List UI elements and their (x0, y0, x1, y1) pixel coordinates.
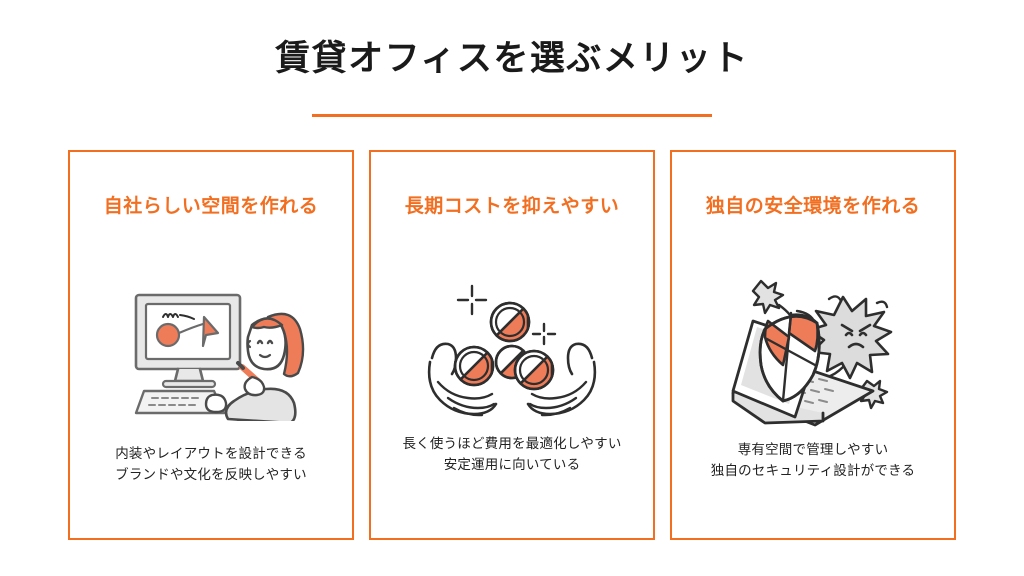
person-at-computer-designing-icon (70, 256, 352, 446)
card-body-line-1: 内装やレイアウトを設計できる (70, 444, 352, 465)
card-title-security: 独自の安全環境を作れる (706, 195, 921, 220)
page-title: 賃貸オフィスを選ぶメリット (0, 38, 1024, 80)
card-body-design: 内装やレイアウトを設計できる ブランドや文化を反映しやすい (70, 444, 352, 486)
card-body-line-1: 長く使うほど費用を最適化しやすい (371, 434, 653, 455)
benefit-card-design[interactable]: 自社らしい空間を作れる (68, 150, 354, 540)
benefit-card-cost[interactable]: 長期コストを抑えやすい (369, 150, 655, 540)
benefit-card-row: 自社らしい空間を作れる (68, 150, 956, 542)
card-body-line-2: ブランドや文化を反映しやすい (70, 465, 352, 486)
title-underline-rule (312, 114, 712, 117)
card-title-design: 自社らしい空間を作れる (104, 195, 319, 220)
hands-holding-coins-icon (371, 256, 653, 446)
benefit-card-security[interactable]: 独自の安全環境を作れる (670, 150, 956, 540)
card-body-line-2: 独自のセキュリティ設計ができる (672, 461, 954, 482)
card-body-line-1: 専有空間で管理しやすい (672, 440, 954, 461)
slide-canvas: 賃貸オフィスを選ぶメリット 自社らしい空間を作れる (0, 0, 1024, 576)
card-title-cost: 長期コストを抑えやすい (405, 195, 620, 220)
card-body-security: 専有空間で管理しやすい 独自のセキュリティ設計ができる (672, 440, 954, 482)
laptop-shield-blocking-virus-icon (672, 256, 954, 446)
card-body-cost: 長く使うほど費用を最適化しやすい 安定運用に向いている (371, 434, 653, 476)
card-body-line-2: 安定運用に向いている (371, 455, 653, 476)
